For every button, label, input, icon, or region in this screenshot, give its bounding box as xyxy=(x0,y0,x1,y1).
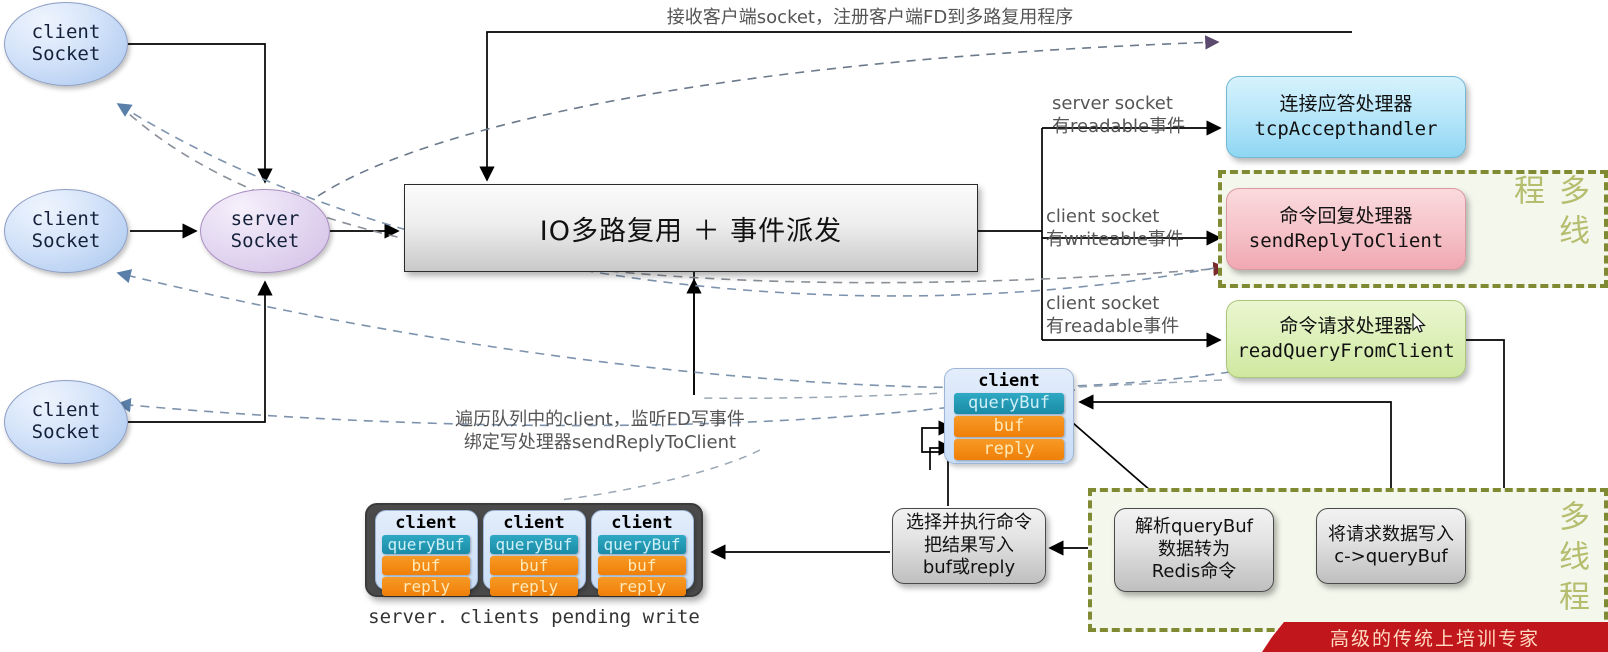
client-struct-main[interactable]: client queryBuf buf reply xyxy=(944,368,1074,464)
parse-querybuf-line3: Redis命令 xyxy=(1152,561,1237,584)
client-field-querybuf: queryBuf xyxy=(954,393,1064,414)
server-socket[interactable]: server Socket xyxy=(200,189,330,273)
client-struct-title: client xyxy=(978,372,1039,391)
tcp-accept-handler-fn: tcpAccepthandler xyxy=(1254,117,1437,142)
server-socket-line2: Socket xyxy=(231,231,300,253)
client-socket-2-line1: client xyxy=(32,209,101,231)
traverse-line2: 绑定写处理器sendReplyToClient xyxy=(420,431,780,454)
traverse-line1: 遍历队列中的client，监听FD写事件 xyxy=(420,408,780,431)
client-writeable-line2: 有writeable事件 xyxy=(1046,228,1226,251)
send-reply-handler-fn: sendReplyToClient xyxy=(1249,229,1443,254)
write-request-line2: c->queryBuf xyxy=(1334,546,1448,569)
client-readable-line2: 有readable事件 xyxy=(1046,315,1226,338)
client-socket-3[interactable]: client Socket xyxy=(4,380,128,464)
pending-field-reply: reply xyxy=(598,577,686,596)
pending-write-caption: server. clients pending write xyxy=(365,606,703,628)
execute-command-line1: 选择并执行命令 xyxy=(906,512,1032,535)
client-writeable-line1: client socket xyxy=(1046,205,1226,228)
read-query-handler-fn: readQueryFromClient xyxy=(1237,339,1454,364)
pending-field-reply: reply xyxy=(382,577,470,596)
client-socket-3-line1: client xyxy=(32,400,101,422)
client-socket-2-line2: Socket xyxy=(32,231,101,253)
send-reply-handler-cn: 命令回复处理器 xyxy=(1279,204,1412,229)
tcp-accept-handler-box[interactable]: 连接应答处理器 tcpAccepthandler xyxy=(1226,76,1466,158)
server-readable-line2: 有readable事件 xyxy=(1052,115,1224,138)
mouse-cursor-icon xyxy=(1412,313,1426,333)
send-reply-handler-box[interactable]: 命令回复处理器 sendReplyToClient xyxy=(1226,188,1466,270)
pending-client-card[interactable]: client queryBuf buf reply xyxy=(591,510,694,590)
write-request-line1: 将请求数据写入 xyxy=(1328,524,1454,547)
pending-client-title: client xyxy=(611,514,672,533)
server-socket-line1: server xyxy=(231,209,300,231)
write-request-box[interactable]: 将请求数据写入 c->queryBuf xyxy=(1316,508,1466,584)
client-socket-1-line2: Socket xyxy=(32,44,101,66)
parse-querybuf-box[interactable]: 解析queryBuf 数据转为 Redis命令 xyxy=(1114,508,1274,592)
top-annotation: 接收客户端socket，注册客户端FD到多路复用程序 xyxy=(560,6,1180,29)
server-readable-line1: server socket xyxy=(1052,92,1224,115)
server-readable-label: server socket 有readable事件 xyxy=(1052,92,1224,139)
diagram-canvas: 接收客户端socket，注册客户端FD到多路复用程序 server socket… xyxy=(0,0,1608,644)
client-readable-line1: client socket xyxy=(1046,292,1226,315)
multithread-label-bottom: 多线程 xyxy=(1549,500,1594,620)
read-query-handler-cn: 命令请求处理器 xyxy=(1279,314,1412,339)
pending-field-reply: reply xyxy=(490,577,578,596)
pending-field-querybuf: queryBuf xyxy=(382,535,470,554)
clients-pending-write-container: client queryBuf buf reply client queryBu… xyxy=(365,503,703,597)
execute-command-line2: 把结果写入 xyxy=(924,535,1014,558)
client-socket-1-line1: client xyxy=(32,22,101,44)
traverse-annotation: 遍历队列中的client，监听FD写事件 绑定写处理器sendReplyToCl… xyxy=(420,408,780,455)
pending-field-buf: buf xyxy=(382,556,470,575)
pending-field-querybuf: queryBuf xyxy=(598,535,686,554)
parse-querybuf-line2: 数据转为 xyxy=(1158,539,1230,562)
pending-client-card[interactable]: client queryBuf buf reply xyxy=(483,510,586,590)
execute-command-line3: buf或reply xyxy=(923,557,1015,580)
pending-field-buf: buf xyxy=(598,556,686,575)
tcp-accept-handler-cn: 连接应答处理器 xyxy=(1279,92,1412,117)
read-query-handler-box[interactable]: 命令请求处理器 readQueryFromClient xyxy=(1226,300,1466,378)
pending-client-card[interactable]: client queryBuf buf reply xyxy=(375,510,478,590)
pending-client-title: client xyxy=(395,514,456,533)
client-writeable-label: client socket 有writeable事件 xyxy=(1046,205,1226,252)
client-socket-2[interactable]: client Socket xyxy=(4,189,128,273)
client-field-buf: buf xyxy=(954,416,1064,437)
io-multiplex-box[interactable]: IO多路复用 ＋ 事件派发 xyxy=(404,184,978,272)
client-socket-1[interactable]: client Socket xyxy=(4,2,128,86)
client-socket-3-line2: Socket xyxy=(32,422,101,444)
pending-field-buf: buf xyxy=(490,556,578,575)
pending-field-querybuf: queryBuf xyxy=(490,535,578,554)
execute-command-box[interactable]: 选择并执行命令 把结果写入 buf或reply xyxy=(892,508,1046,584)
pending-client-title: client xyxy=(503,514,564,533)
client-readable-label: client socket 有readable事件 xyxy=(1046,292,1226,339)
multithread-label-top: 多线程 xyxy=(1504,174,1594,284)
io-multiplex-label: IO多路复用 ＋ 事件派发 xyxy=(540,209,842,248)
client-field-reply: reply xyxy=(954,439,1064,460)
parse-querybuf-line1: 解析queryBuf xyxy=(1135,516,1253,539)
watermark-ribbon: 高级的传统上培训专家 xyxy=(1262,622,1608,652)
